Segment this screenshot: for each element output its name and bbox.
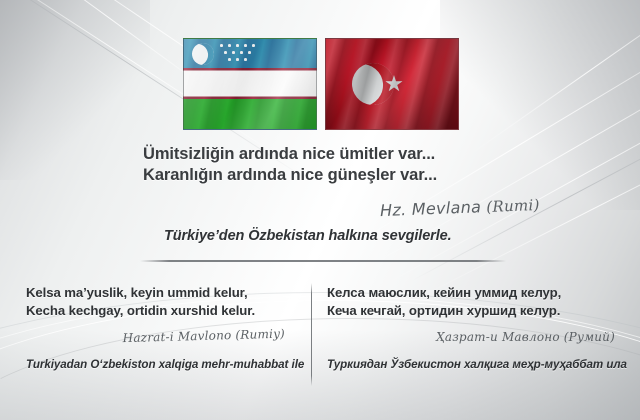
main-signature: Hz. Mevlana (Rumi): [380, 195, 540, 220]
column-quote-line-1: Kelsa ma’yuslik, keyin ummid kelur,: [26, 284, 301, 302]
horizontal-divider: [140, 260, 506, 262]
column-quote-line-2: Кеча кечгай, ортидин хуршид келур.: [327, 302, 627, 320]
flag-shading: [184, 39, 316, 129]
column-footer: Turkiyadan O‘zbekiston xalqiga mehr-muha…: [26, 358, 301, 371]
main-signature-paren: (Rumi): [481, 196, 540, 216]
column-uzbek-cyrillic: Келса маюслик, кейин уммид келур, Кеча к…: [327, 284, 627, 371]
turkey-flag-icon: ★: [325, 38, 459, 130]
column-quote: Келса маюслик, кейин уммид келур, Кеча к…: [327, 284, 627, 320]
column-quote-line-2: Kecha kechgay, ortidin xurshid kelur.: [26, 302, 301, 320]
column-footer: Туркиядан Ўзбекистон халқига меҳр-муҳабб…: [327, 358, 627, 371]
column-signature: Hazrat-i Mavlono (Rumiy): [26, 326, 301, 348]
corner-shade-left: [0, 0, 150, 180]
dedication-text: Türkiye’den Özbekistan halkına sevgilerl…: [164, 228, 452, 244]
flag-shading: [326, 39, 458, 129]
column-quote-line-1: Келса маюслик, кейин уммид келур,: [327, 284, 627, 302]
poster-canvas: ★ Ümitsizliğin ardında nice ümitler var.…: [0, 0, 640, 420]
vertical-divider: [311, 283, 312, 386]
flag-pair: ★: [183, 38, 460, 130]
main-quote-line-1: Ümitsizliğin ardında nice ümitler var...: [143, 144, 437, 165]
main-signature-name: Hz. Mevlana: [380, 197, 482, 220]
column-quote: Kelsa ma’yuslik, keyin ummid kelur, Kech…: [26, 284, 301, 320]
main-quote: Ümitsizliğin ardında nice ümitler var...…: [143, 144, 437, 186]
swoosh-line: [467, 0, 640, 157]
main-quote-line-2: Karanlığın ardında nice güneşler var...: [143, 165, 437, 186]
column-uzbek-latin: Kelsa ma’yuslik, keyin ummid kelur, Kech…: [26, 284, 301, 371]
column-signature: Ҳазрат-и Мавлоно (Румий): [327, 330, 627, 344]
corner-shade-right: [440, 0, 640, 210]
uzbekistan-flag-icon: [183, 38, 317, 130]
